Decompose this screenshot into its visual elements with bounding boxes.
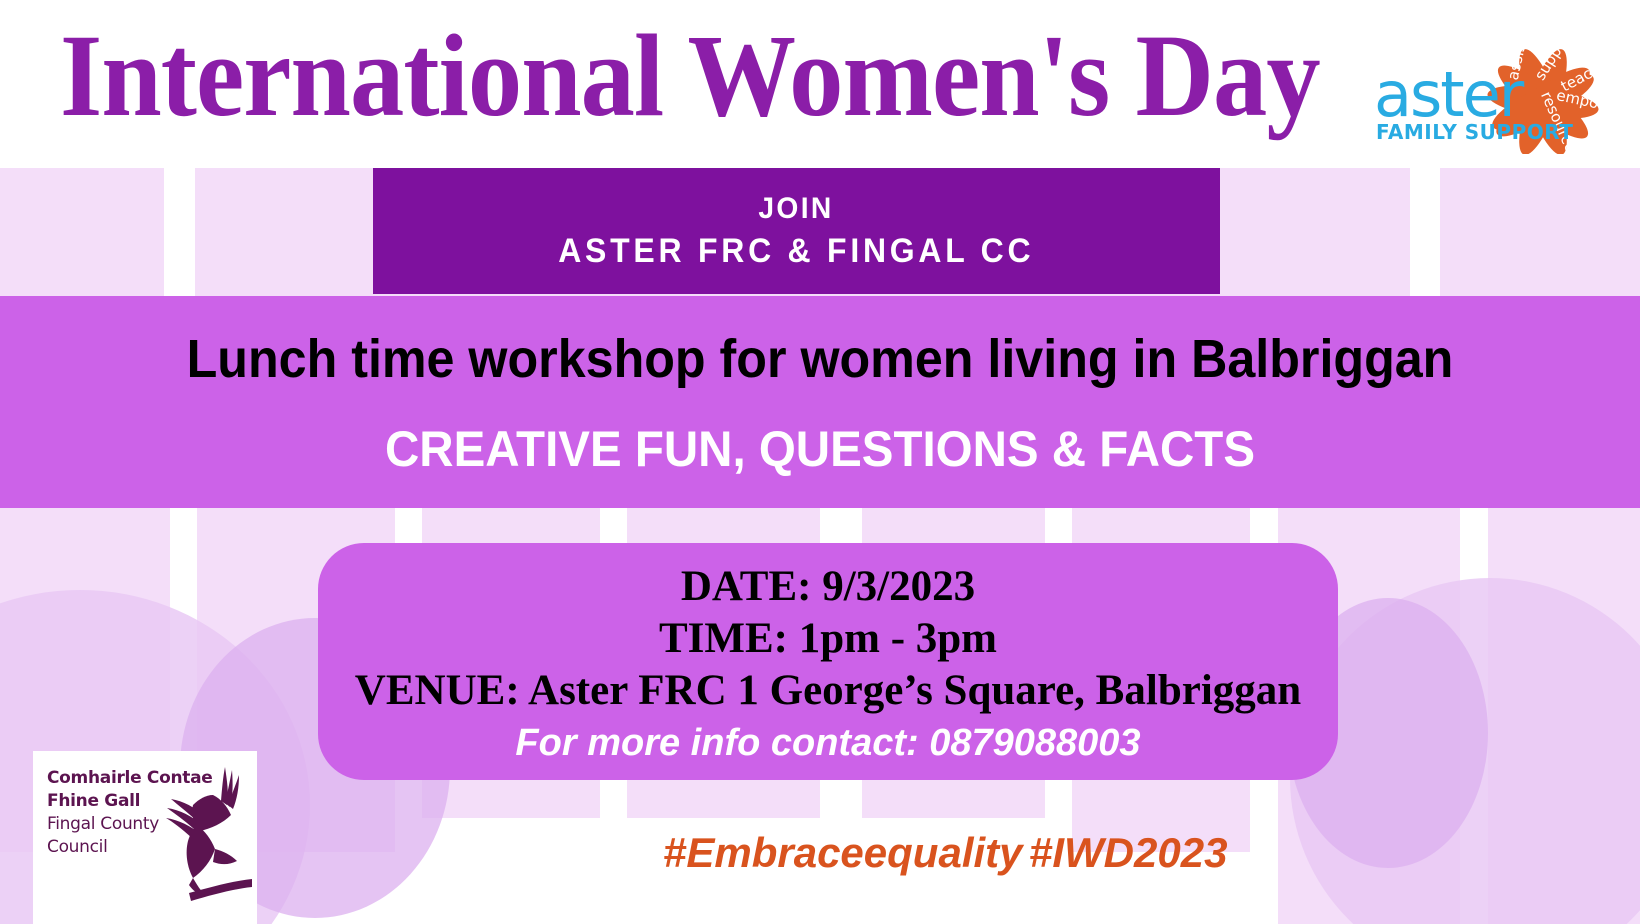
aster-wordmark: aster bbox=[1374, 64, 1522, 126]
headline-band: Lunch time workshop for women living in … bbox=[0, 296, 1640, 508]
aster-tagline: FAMILY SUPPORT bbox=[1376, 122, 1573, 142]
bg-panel bbox=[0, 168, 164, 296]
join-organisations: ASTER FRC & FINGAL CC bbox=[558, 229, 1034, 273]
event-venue: VENUE: Aster FRC 1 George’s Square, Balb… bbox=[318, 667, 1338, 715]
event-time: TIME: 1pm - 3pm bbox=[318, 615, 1338, 663]
hashtag-embrace-equality: #Embraceequality bbox=[663, 828, 1023, 878]
event-date: DATE: 9/3/2023 bbox=[318, 563, 1338, 611]
workshop-headline: Lunch time workshop for women living in … bbox=[57, 328, 1582, 390]
event-contact: For more info contact: 0879088003 bbox=[318, 721, 1338, 765]
bg-panel bbox=[1440, 168, 1640, 296]
join-label: JOIN bbox=[759, 189, 834, 229]
workshop-subhead: CREATIVE FUN, QUESTIONS & FACTS bbox=[41, 420, 1599, 478]
page-title: International Women's Day bbox=[60, 14, 1256, 138]
join-banner: JOIN ASTER FRC & FINGAL CC bbox=[373, 168, 1220, 294]
eagle-icon bbox=[153, 761, 253, 901]
poster-canvas: International Women's Day assist support… bbox=[0, 0, 1640, 924]
event-details-card: DATE: 9/3/2023 TIME: 1pm - 3pm VENUE: As… bbox=[318, 543, 1338, 780]
hashtag-iwd2023: #IWD2023 bbox=[1029, 828, 1227, 878]
aster-logo: assist support teach empower resource as… bbox=[1368, 2, 1636, 154]
poster-header: International Women's Day assist support… bbox=[0, 0, 1640, 168]
fingal-county-council-logo: Comhairle Contae Fhine Gall Fingal Count… bbox=[33, 751, 257, 924]
